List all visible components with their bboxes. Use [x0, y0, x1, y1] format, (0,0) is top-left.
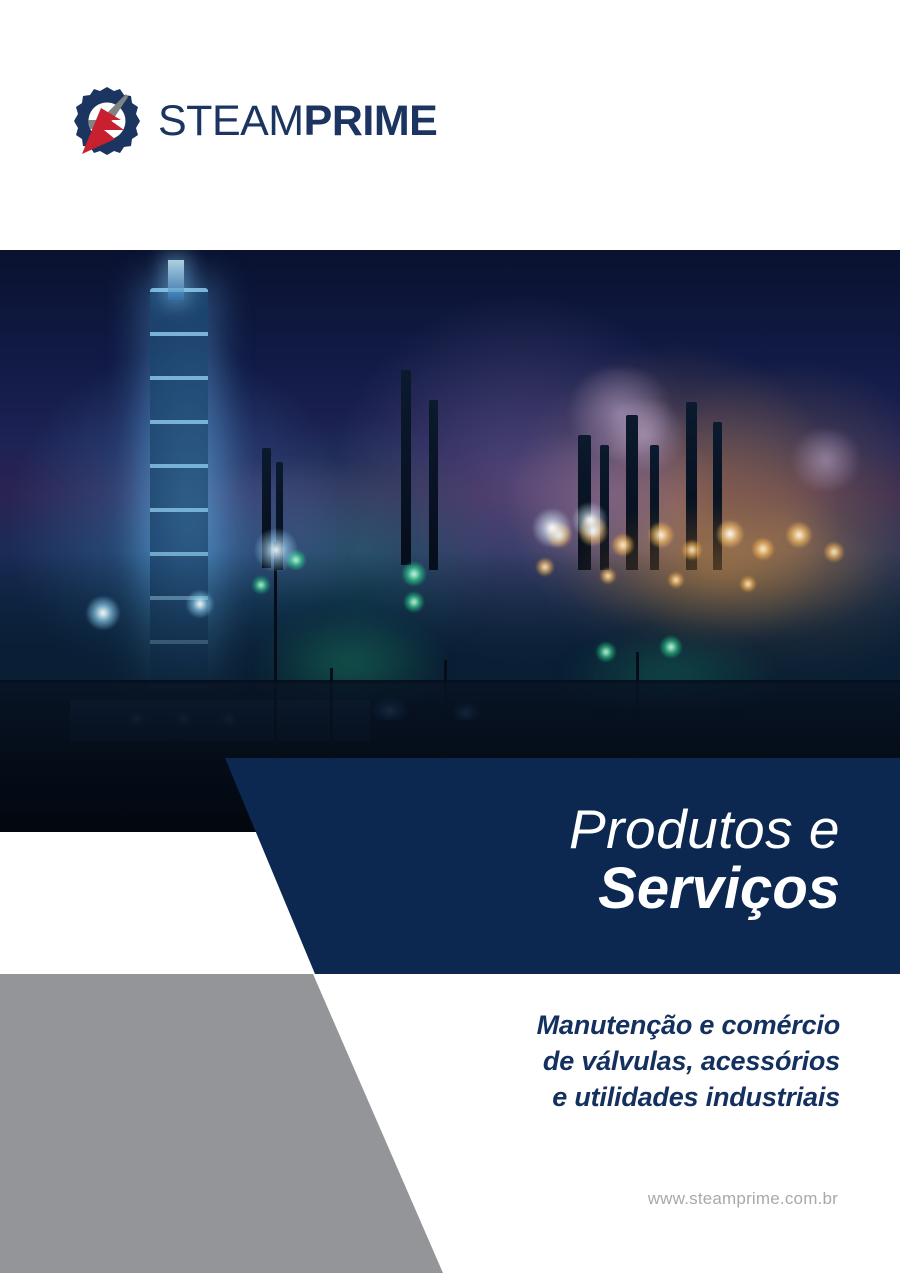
- cover-title: Produtos e Serviços: [340, 800, 840, 921]
- subtitle-line-1: Manutenção e comércio: [360, 1008, 840, 1044]
- title-line-1: Produtos e: [340, 800, 840, 858]
- brochure-cover-page: STEAMPRIME: [0, 0, 900, 1273]
- title-line-2: Serviços: [340, 858, 840, 921]
- hero-image: [0, 250, 900, 832]
- brand-logo[interactable]: STEAMPRIME: [68, 82, 437, 160]
- wordmark-prime: PRIME: [304, 97, 438, 145]
- website-url[interactable]: www.steamprime.com.br: [648, 1189, 838, 1209]
- header-band: STEAMPRIME: [0, 0, 900, 250]
- steamprime-gear-arrow-logo-icon: [68, 82, 146, 160]
- brand-wordmark: STEAMPRIME: [158, 100, 437, 143]
- subtitle-line-3: e utilidades industriais: [360, 1080, 840, 1116]
- hero-photo-detail: [0, 250, 900, 832]
- subtitle-line-2: de válvulas, acessórios: [360, 1044, 840, 1080]
- cover-subtitle: Manutenção e comércio de válvulas, acess…: [360, 1008, 840, 1116]
- wordmark-steam: STEAM: [158, 97, 304, 145]
